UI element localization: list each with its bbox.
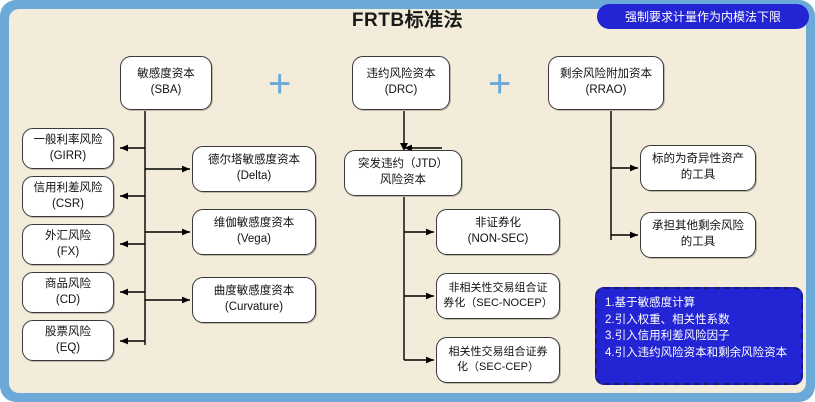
node-risk-fx[interactable]: 外汇风险 (FX) [22, 224, 114, 265]
node-sec-cep-line2: 化（SEC-CEP） [457, 360, 539, 375]
node-delta-line1: 德尔塔敏感度资本 [208, 153, 300, 169]
node-non-sec-line1: 非证券化 [475, 216, 521, 232]
note-line-2: 2.引入权重、相关性系数 [605, 312, 793, 329]
node-curvature[interactable]: 曲度敏感度资本 (Curvature) [192, 277, 316, 323]
node-drc-line2: (DRC) [385, 83, 418, 99]
note-line-1: 1.基于敏感度计算 [605, 295, 793, 312]
node-sba[interactable]: 敏感度资本 (SBA) [120, 56, 212, 110]
summary-note: 1.基于敏感度计算 2.引入权重、相关性系数 3.引入信用利差风险因子 4.引入… [595, 287, 803, 385]
node-risk-cd-line2: (CD) [56, 293, 80, 309]
node-drc-line1: 违约风险资本 [367, 67, 436, 83]
node-risk-girr-line1: 一般利率风险 [34, 133, 103, 149]
node-risk-cd-line1: 商品风险 [45, 277, 91, 293]
note-line-3: 3.引入信用利差风险因子 [605, 328, 793, 345]
node-other-residual-instrument-line2: 的工具 [681, 235, 716, 251]
node-risk-girr-line2: (GIRR) [50, 149, 86, 165]
node-risk-eq[interactable]: 股票风险 (EQ) [22, 320, 114, 361]
node-risk-csr-line1: 信用利差风险 [34, 181, 103, 197]
node-sec-cep-line1: 相关性交易组合证券 [449, 345, 548, 360]
note-line-4: 4.引入违约风险资本和剩余风险资本 [605, 345, 793, 362]
node-jtd-line1: 突发违约（JTD） [358, 157, 448, 173]
node-jtd[interactable]: 突发违约（JTD） 风险资本 [344, 150, 462, 196]
status-badge: 强制要求计量作为内模法下限 [597, 4, 809, 29]
node-rrao-line1: 剩余风险附加资本 [560, 67, 652, 83]
node-vega-line1: 维伽敏感度资本 [214, 216, 295, 232]
plus-operator-2: + [488, 64, 511, 104]
node-non-sec-line2: (NON-SEC) [468, 232, 529, 248]
node-risk-eq-line1: 股票风险 [45, 325, 91, 341]
node-risk-csr[interactable]: 信用利差风险 (CSR) [22, 176, 114, 217]
node-vega[interactable]: 维伽敏感度资本 (Vega) [192, 209, 316, 255]
node-curvature-line1: 曲度敏感度资本 [214, 284, 295, 300]
node-rrao-line2: (RRAO) [586, 83, 627, 99]
node-jtd-line2: 风险资本 [380, 173, 426, 189]
node-drc[interactable]: 违约风险资本 (DRC) [352, 56, 450, 110]
node-exotic-instrument-line1: 标的为奇异性资产 [652, 152, 744, 168]
node-risk-fx-line2: (FX) [57, 245, 79, 261]
node-vega-line2: (Vega) [237, 232, 271, 248]
node-risk-csr-line2: (CSR) [52, 197, 84, 213]
diagram-canvas: FRTB标准法 强制要求计量作为内模法下限 + + 敏感度资本 (SBA) 违约… [0, 0, 815, 402]
node-other-residual-instrument-line1: 承担其他剩余风险 [652, 219, 744, 235]
node-curvature-line2: (Curvature) [225, 300, 283, 316]
node-delta[interactable]: 德尔塔敏感度资本 (Delta) [192, 146, 316, 192]
node-sba-line2: (SBA) [151, 83, 182, 99]
node-non-sec[interactable]: 非证券化 (NON-SEC) [436, 209, 560, 255]
node-sec-nocep[interactable]: 非相关性交易组合证 券化（SEC-NOCEP） [436, 273, 560, 319]
node-risk-cd[interactable]: 商品风险 (CD) [22, 272, 114, 313]
node-sba-line1: 敏感度资本 [137, 67, 195, 83]
node-sec-cep[interactable]: 相关性交易组合证券 化（SEC-CEP） [436, 337, 560, 383]
node-other-residual-instrument[interactable]: 承担其他剩余风险 的工具 [640, 212, 756, 258]
node-risk-eq-line2: (EQ) [56, 341, 80, 357]
node-rrao[interactable]: 剩余风险附加资本 (RRAO) [548, 56, 664, 110]
node-risk-girr[interactable]: 一般利率风险 (GIRR) [22, 128, 114, 169]
node-sec-nocep-line1: 非相关性交易组合证 [449, 281, 548, 296]
node-sec-nocep-line2: 券化（SEC-NOCEP） [443, 296, 552, 311]
node-delta-line2: (Delta) [237, 169, 272, 185]
plus-operator-1: + [268, 64, 291, 104]
node-risk-fx-line1: 外汇风险 [45, 229, 91, 245]
node-exotic-instrument[interactable]: 标的为奇异性资产 的工具 [640, 145, 756, 191]
node-exotic-instrument-line2: 的工具 [681, 168, 716, 184]
